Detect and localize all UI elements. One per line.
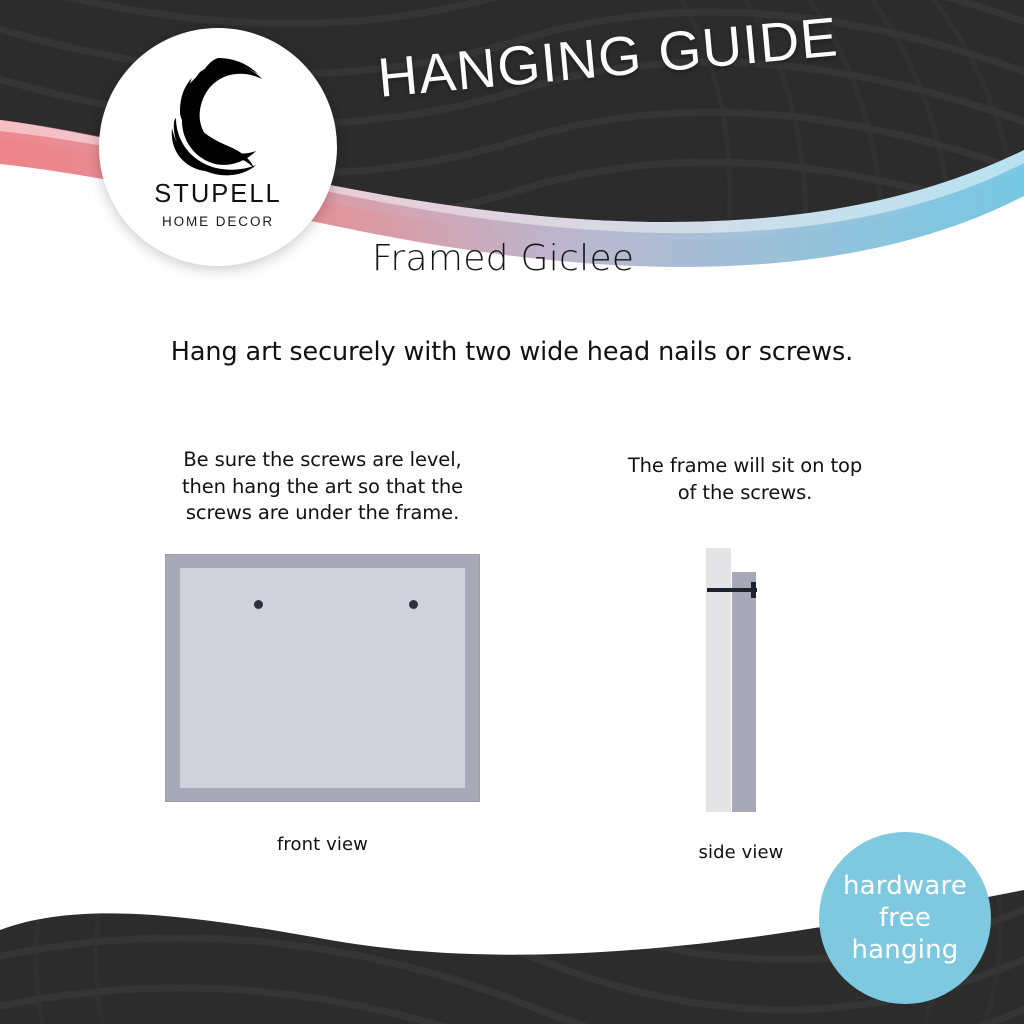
hardware-free-hanging-badge: hardware free hanging (819, 832, 991, 1004)
page-title: HANGING GUIDE (375, 0, 899, 110)
front-view-caption-line: screws are under the frame. (160, 500, 485, 527)
frame-strip (732, 572, 756, 812)
hanging-guide-infographic: HANGING GUIDE STUPELL HOME DECOR Framed … (0, 0, 1024, 1024)
stupell-swoosh-icon (170, 58, 266, 176)
product-type-subtitle: Framed Giclee (372, 238, 634, 279)
front-view-caption-line: then hang the art so that the (160, 474, 485, 501)
screw-dot-icon (409, 600, 418, 609)
side-view-caption-line: of the screws. (600, 480, 890, 507)
brand-logo-badge: STUPELL HOME DECOR (99, 28, 337, 266)
main-instruction-text: Hang art securely with two wide head nai… (0, 337, 1024, 367)
screw-side-icon (707, 588, 757, 592)
front-view-caption-line: Be sure the screws are level, (160, 447, 485, 474)
screw-head-icon (751, 582, 756, 598)
front-view-frame-diagram (165, 554, 480, 802)
side-view-frame-diagram (706, 546, 776, 814)
badge-line: free (879, 902, 931, 934)
front-view-art-panel (180, 568, 465, 788)
side-view-caption: The frame will sit on top of the screws. (600, 453, 890, 506)
front-view-caption: Be sure the screws are level, then hang … (160, 447, 485, 527)
badge-line: hardware (843, 870, 967, 902)
logo-subwordmark: HOME DECOR (162, 215, 274, 229)
front-view-label: front view (165, 834, 480, 855)
badge-line: hanging (852, 934, 959, 966)
screw-dot-icon (254, 600, 263, 609)
side-view-label: side view (661, 842, 821, 863)
logo-wordmark: STUPELL (154, 182, 281, 208)
side-view-caption-line: The frame will sit on top (600, 453, 890, 480)
